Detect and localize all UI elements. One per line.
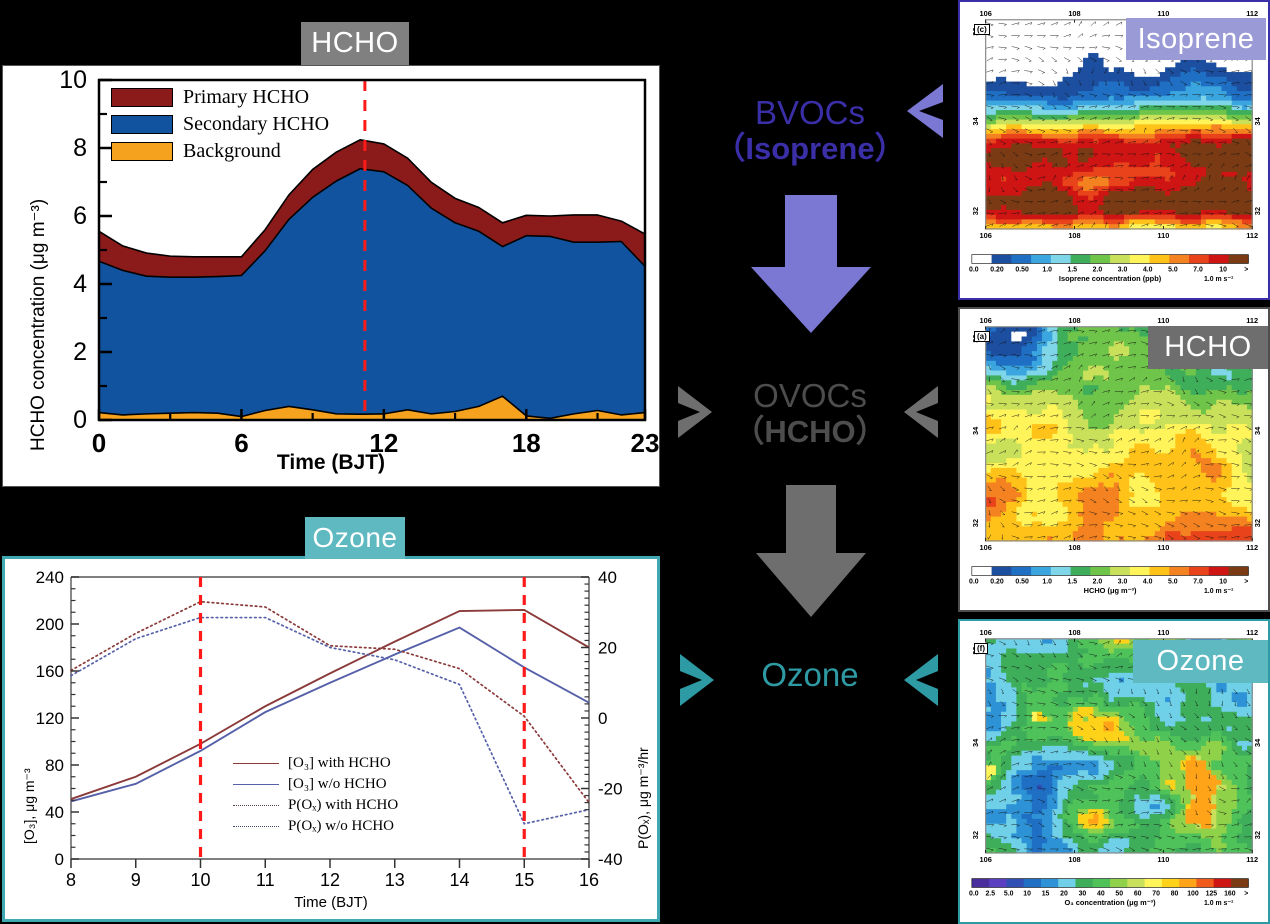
ozone-right-axis-label: P(Oₓ), μg m⁻³/hr bbox=[635, 747, 652, 849]
hcho-plot-svg: 024681006121823 bbox=[3, 66, 659, 486]
flow-bvocs-line2: （Isoprene） bbox=[690, 132, 930, 167]
svg-text:112: 112 bbox=[1246, 9, 1258, 18]
legend-item-o3-wo: [O₃] w/o HCHO bbox=[233, 774, 398, 795]
svg-text:110: 110 bbox=[1157, 231, 1169, 240]
svg-text:0.50: 0.50 bbox=[1015, 266, 1029, 273]
isoprene-panel-tag: (c) bbox=[974, 24, 990, 35]
svg-text:40: 40 bbox=[598, 568, 617, 587]
svg-text:3.0: 3.0 bbox=[1118, 266, 1128, 273]
hcho-panel-tag: (a) bbox=[974, 331, 990, 342]
svg-text:80: 80 bbox=[45, 756, 64, 775]
badge-ozone-map: Ozone bbox=[1133, 640, 1268, 683]
ozone-chart-panel: 04080120160200240-40-2002040891011121314… bbox=[2, 556, 660, 922]
svg-text:32: 32 bbox=[1253, 207, 1262, 215]
legend-item-pox-wo: P(Oₓ) w/o HCHO bbox=[233, 816, 398, 837]
badge-hcho-chart: HCHO bbox=[301, 22, 409, 65]
legend-label-background: Background bbox=[183, 140, 281, 163]
svg-text:200: 200 bbox=[36, 615, 64, 634]
hcho-x-axis-label: Time (BJT) bbox=[3, 451, 659, 475]
flow-ovocs-line1: OVOCs bbox=[690, 378, 930, 415]
svg-text:16: 16 bbox=[579, 870, 599, 890]
svg-text:108: 108 bbox=[1068, 231, 1080, 240]
svg-text:0: 0 bbox=[55, 850, 64, 869]
svg-text:10: 10 bbox=[1219, 266, 1227, 273]
legend-label-o3-with: [O₃] with HCHO bbox=[288, 755, 391, 772]
svg-text:13: 13 bbox=[385, 870, 405, 890]
badge-hcho-map: HCHO bbox=[1148, 326, 1268, 369]
svg-text:8: 8 bbox=[66, 870, 76, 890]
chevron-left-hcho-map bbox=[898, 384, 940, 440]
svg-text:1.0 m s⁻¹: 1.0 m s⁻¹ bbox=[1204, 276, 1234, 283]
hcho-chart-panel: HCHO concentration (μg m⁻³) 024681006121… bbox=[2, 65, 660, 487]
svg-text:0.0: 0.0 bbox=[969, 266, 979, 273]
legend-item-primary: Primary HCHO bbox=[111, 86, 329, 109]
arrow-down-ovocs-to-ozone bbox=[752, 485, 870, 619]
ozone-left-axis-label: [O₃], μg m⁻³ bbox=[21, 768, 38, 844]
chevron-right-ozone bbox=[678, 652, 720, 708]
flow-step-bvocs: BVOCs （Isoprene） bbox=[690, 95, 930, 167]
svg-text:1.0: 1.0 bbox=[1042, 266, 1052, 273]
chevron-right-ovocs bbox=[676, 384, 718, 440]
ozone-x-axis-label: Time (BJT) bbox=[5, 894, 657, 911]
svg-text:0.20: 0.20 bbox=[990, 266, 1004, 273]
svg-text:Isoprene concentration (ppb): Isoprene concentration (ppb) bbox=[1059, 274, 1162, 283]
badge-isoprene-map: Isoprene bbox=[1126, 18, 1266, 60]
legend-item-o3-with: [O₃] with HCHO bbox=[233, 753, 398, 774]
badge-ozone-chart: Ozone bbox=[305, 517, 405, 559]
svg-text:2.0: 2.0 bbox=[1093, 266, 1103, 273]
legend-line-pox-with bbox=[233, 805, 279, 806]
legend-line-o3-wo bbox=[233, 784, 279, 785]
svg-text:15: 15 bbox=[514, 870, 534, 890]
svg-text:4: 4 bbox=[73, 270, 87, 298]
legend-line-o3-with bbox=[233, 763, 279, 764]
legend-item-secondary: Secondary HCHO bbox=[111, 113, 329, 136]
hcho-legend: Primary HCHO Secondary HCHO Background bbox=[111, 86, 329, 167]
svg-text:108: 108 bbox=[1068, 9, 1080, 18]
svg-text:110: 110 bbox=[1157, 9, 1169, 18]
legend-item-background: Background bbox=[111, 140, 329, 163]
svg-text:160: 160 bbox=[36, 662, 64, 681]
svg-text:2: 2 bbox=[73, 338, 87, 366]
flow-ozone-line1: Ozone bbox=[690, 657, 930, 694]
svg-text:40: 40 bbox=[45, 803, 64, 822]
ozone-legend: [O₃] with HCHO [O₃] w/o HCHO P(Oₓ) with … bbox=[233, 753, 398, 837]
legend-swatch-primary bbox=[111, 88, 173, 107]
svg-text:6: 6 bbox=[73, 202, 87, 230]
svg-text:14: 14 bbox=[449, 870, 469, 890]
legend-label-primary: Primary HCHO bbox=[183, 86, 309, 109]
svg-text:7.0: 7.0 bbox=[1193, 266, 1203, 273]
ozone-panel-tag: (f) bbox=[974, 643, 988, 654]
chevron-left-isoprene bbox=[897, 82, 945, 140]
svg-text:-20: -20 bbox=[598, 780, 623, 799]
svg-text:120: 120 bbox=[36, 709, 64, 728]
ozone-plot-svg: 04080120160200240-40-2002040891011121314… bbox=[5, 559, 657, 919]
legend-item-pox-with: P(Oₓ) with HCHO bbox=[233, 795, 398, 816]
svg-text:240: 240 bbox=[36, 568, 64, 587]
svg-text:34: 34 bbox=[1253, 116, 1262, 125]
legend-label-pox-with: P(Oₓ) with HCHO bbox=[288, 797, 398, 814]
svg-text:12: 12 bbox=[320, 870, 340, 890]
svg-text:0: 0 bbox=[598, 709, 607, 728]
svg-text:5.0: 5.0 bbox=[1168, 266, 1178, 273]
svg-text:4.0: 4.0 bbox=[1143, 266, 1153, 273]
svg-text:32: 32 bbox=[971, 207, 980, 215]
svg-text:9: 9 bbox=[131, 870, 141, 890]
flow-step-ovocs: OVOCs （HCHO） bbox=[690, 378, 930, 450]
svg-text:>: > bbox=[1244, 266, 1248, 273]
svg-text:112: 112 bbox=[1246, 231, 1258, 240]
svg-text:-40: -40 bbox=[598, 850, 623, 869]
legend-swatch-background bbox=[111, 142, 173, 161]
arrow-down-bvocs-to-ovocs bbox=[747, 195, 875, 335]
flow-ovocs-line2: （HCHO） bbox=[690, 415, 930, 450]
svg-text:11: 11 bbox=[256, 870, 275, 890]
flow-bvocs-line1: BVOCs bbox=[690, 95, 930, 132]
svg-text:20: 20 bbox=[598, 639, 617, 658]
svg-text:0: 0 bbox=[73, 406, 87, 434]
svg-text:106: 106 bbox=[979, 9, 991, 18]
svg-text:1.5: 1.5 bbox=[1068, 266, 1078, 273]
svg-text:106: 106 bbox=[979, 231, 991, 240]
svg-text:34: 34 bbox=[971, 116, 980, 125]
legend-line-pox-wo bbox=[233, 826, 279, 827]
legend-swatch-secondary bbox=[111, 115, 173, 134]
svg-text:10: 10 bbox=[59, 66, 87, 94]
svg-text:10: 10 bbox=[190, 870, 210, 890]
legend-label-pox-wo: P(Oₓ) w/o HCHO bbox=[288, 818, 394, 835]
legend-label-o3-wo: [O₃] w/o HCHO bbox=[288, 776, 387, 793]
svg-text:8: 8 bbox=[73, 134, 87, 162]
legend-label-secondary: Secondary HCHO bbox=[183, 113, 329, 136]
chevron-left-ozone-map bbox=[898, 652, 940, 708]
flow-step-ozone: Ozone bbox=[690, 657, 930, 694]
